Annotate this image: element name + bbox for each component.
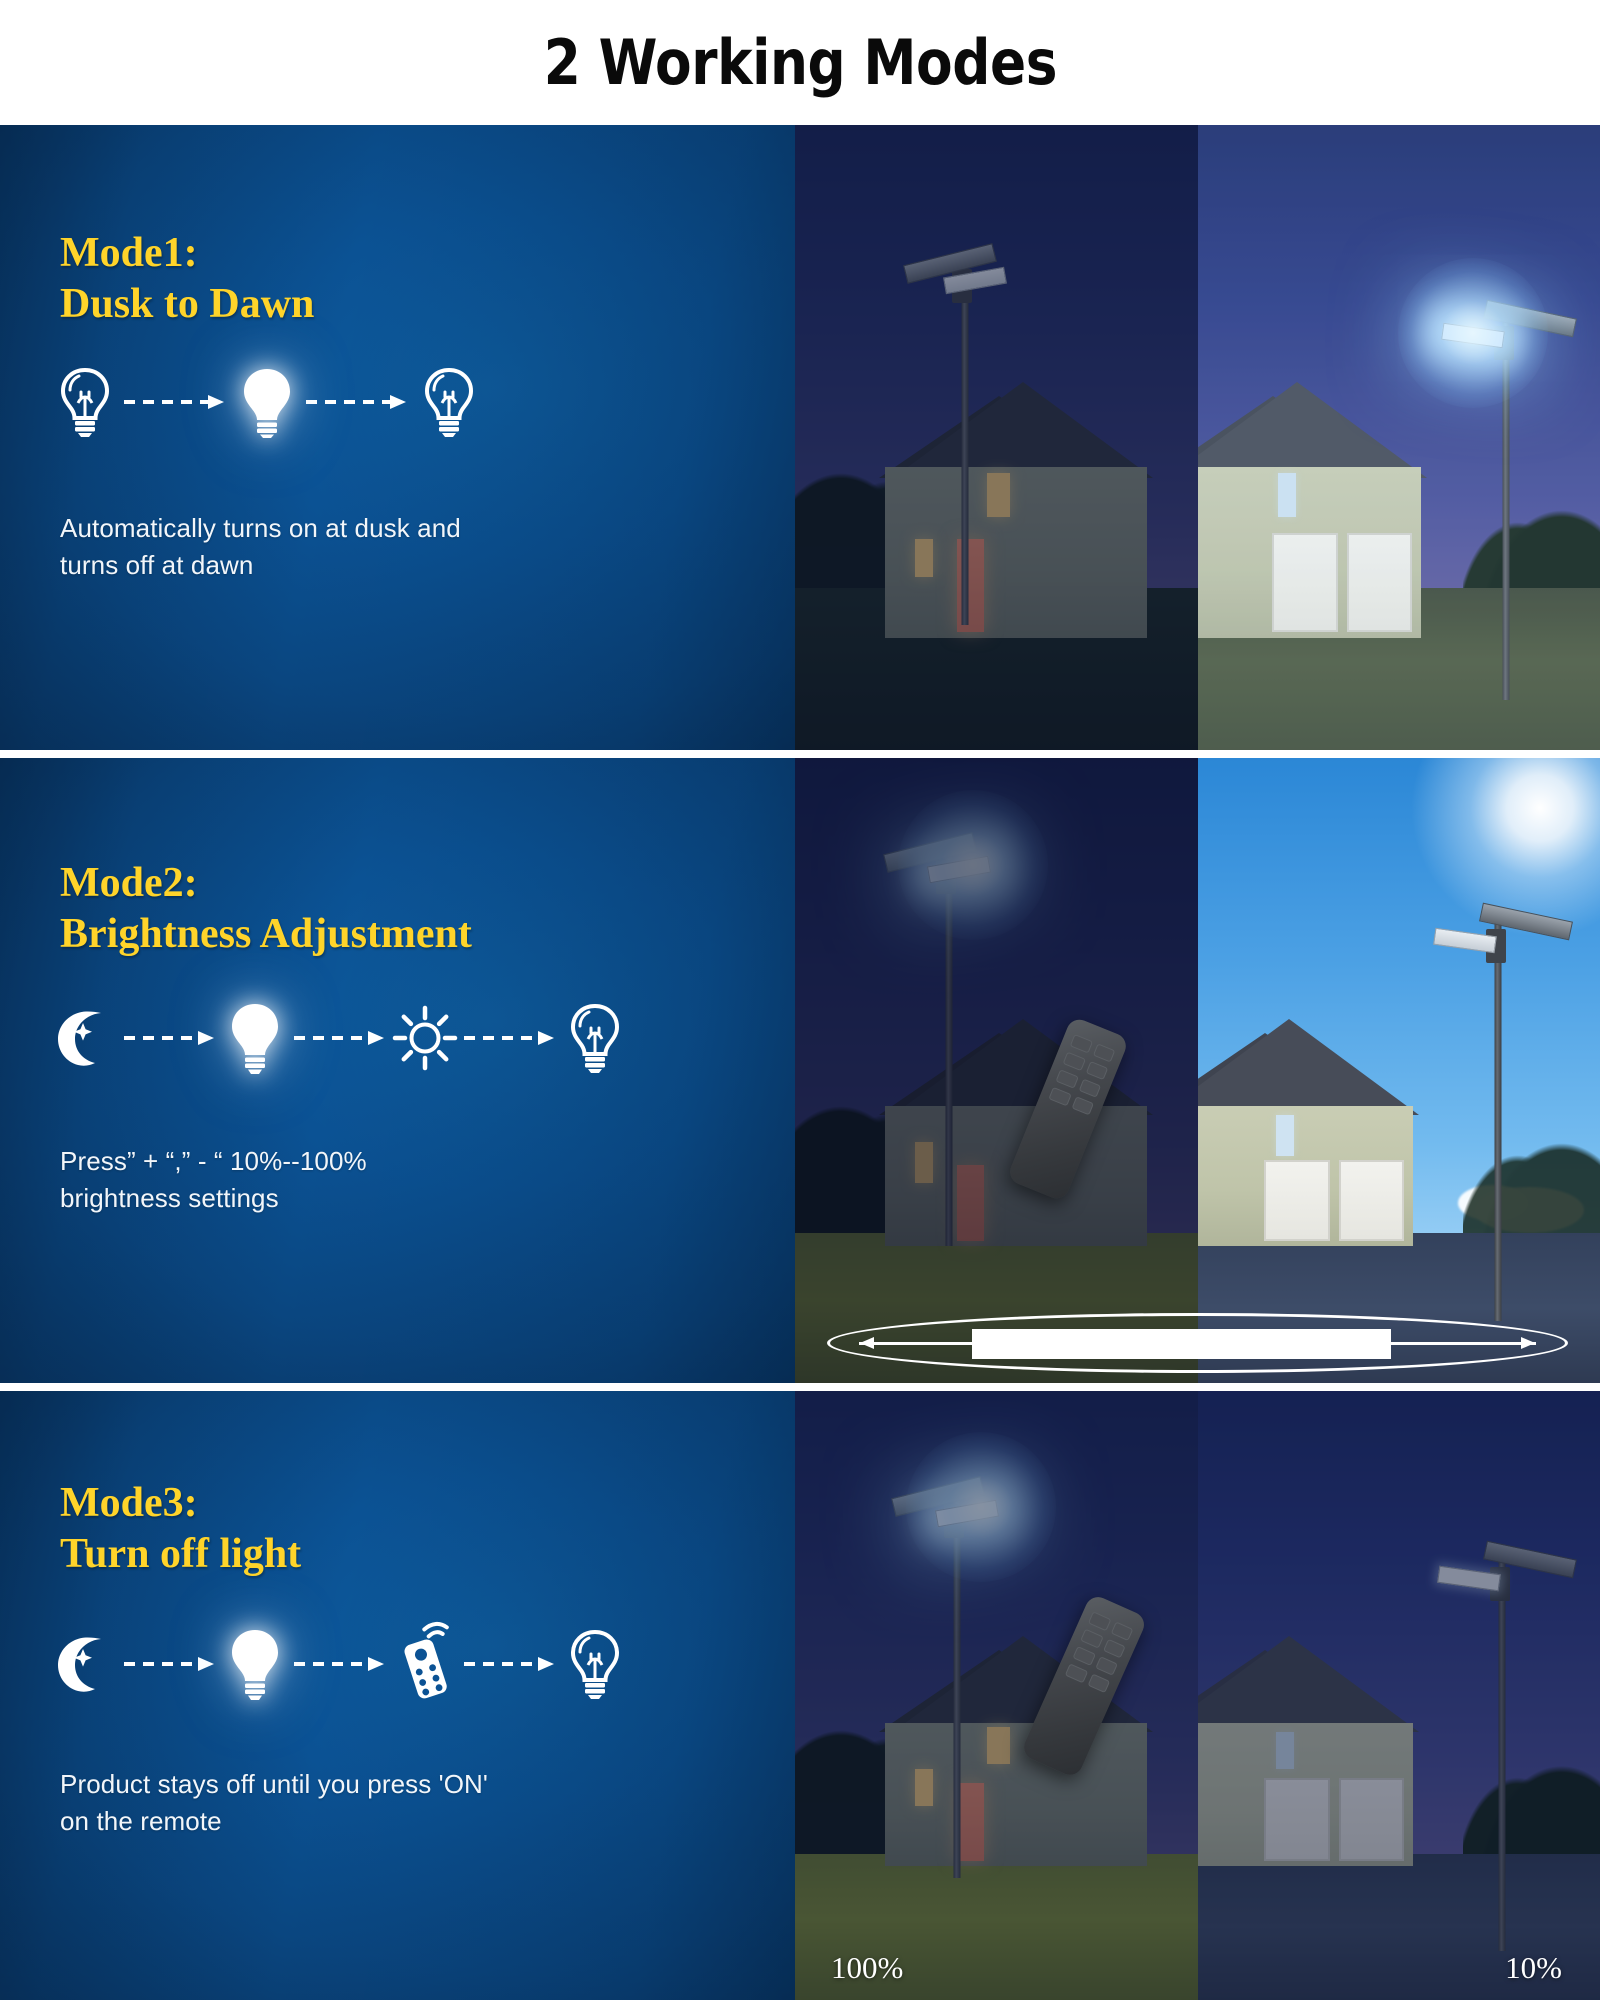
panel-divider <box>0 1383 1600 1391</box>
roof <box>1198 379 1428 478</box>
remote-button[interactable] <box>1102 1639 1125 1659</box>
bulb-glowing-icon <box>218 1001 292 1075</box>
garage-door <box>1339 1778 1405 1861</box>
remote-button[interactable] <box>1071 1096 1094 1115</box>
remote-button[interactable] <box>1085 1060 1108 1079</box>
roof <box>1198 1016 1420 1115</box>
mode3-info-pane: Mode3: Turn off light <box>0 1391 795 2000</box>
remote-button[interactable] <box>1055 1069 1078 1088</box>
mode3-photo: 100% <box>795 1391 1600 2000</box>
roof <box>1198 1633 1420 1732</box>
bulb-outline-icon <box>558 1627 632 1701</box>
remote-button[interactable] <box>1069 1034 1092 1053</box>
window <box>1278 473 1296 517</box>
brightness-label-100: 100% <box>831 1950 903 1986</box>
moon-star-icon <box>48 1627 122 1701</box>
mode1-photo-right-half <box>1198 125 1600 750</box>
mode1-description: Automatically turns on at dusk and turns… <box>60 510 461 584</box>
remote-control-icon <box>388 1627 462 1701</box>
mode-panel-1: Mode1: Dusk to Dawn <box>0 125 1600 750</box>
arrow-dashed-icon <box>292 1028 388 1048</box>
solar-street-lamp-on <box>1436 270 1576 700</box>
window <box>1276 1115 1294 1156</box>
remote-button[interactable] <box>1087 1611 1110 1631</box>
mode-panel-3: Mode3: Turn off light <box>0 1391 1600 2000</box>
remote-button[interactable] <box>1092 1043 1115 1062</box>
mode1-photo <box>795 125 1600 750</box>
remote-button[interactable] <box>1072 1646 1095 1666</box>
bulb-glowing-icon <box>218 1627 292 1701</box>
arrow-dashed-icon <box>462 1028 558 1048</box>
garage-door <box>1264 1778 1330 1861</box>
lamp-pole <box>953 1500 960 1878</box>
lamp-pole <box>1494 921 1501 1321</box>
bulb-glowing-icon <box>230 365 304 439</box>
arrow-dashed-icon <box>292 1654 388 1674</box>
remote-button[interactable] <box>1087 1673 1110 1693</box>
garage-door <box>1347 533 1413 632</box>
mode1-info-pane: Mode1: Dusk to Dawn <box>0 125 795 750</box>
brightness-label-10: 10% <box>1505 1950 1562 1986</box>
window <box>1276 1732 1294 1769</box>
mode2-icon-flow <box>48 1001 632 1075</box>
remote-button[interactable] <box>1080 1629 1103 1649</box>
mode2-photo-left-half <box>795 758 1198 1383</box>
garage-door <box>1264 1160 1330 1241</box>
solar-street-lamp-on <box>892 1468 1022 1878</box>
bulb-outline-icon <box>558 1001 632 1075</box>
mode2-description: Press” + “,” - “ 10%--100% brightness se… <box>60 1143 367 1217</box>
mode2-title: Mode2: Brightness Adjustment <box>60 858 472 960</box>
solar-street-lamp-off <box>900 225 1030 625</box>
page-title: 2 Working Modes <box>543 26 1056 99</box>
bulb-outline-icon <box>412 365 486 439</box>
lamp-pole <box>945 856 952 1246</box>
arrow-dashed-icon <box>122 392 230 412</box>
remote-button[interactable] <box>1048 1086 1071 1105</box>
brightness-label-blank <box>972 1329 1391 1359</box>
solar-street-lamp-off <box>1428 881 1568 1321</box>
mode2-photo-right-half <box>1198 758 1600 1383</box>
bulb-outline-icon <box>48 365 122 439</box>
house <box>1198 1635 1431 1866</box>
product-infographic: 2 Working Modes Mode1: Dusk to Dawn <box>0 0 1600 2000</box>
garage-door <box>1272 533 1338 632</box>
solar-street-lamp-dim <box>1432 1521 1572 1951</box>
arrow-dashed-icon <box>304 392 412 412</box>
lamp-pole <box>1498 1559 1505 1951</box>
mode1-photo-left-half <box>795 125 1198 750</box>
mode-panel-2: Mode2: Brightness Adjustment <box>0 758 1600 1383</box>
arrow-dashed-icon <box>122 1028 218 1048</box>
house <box>1198 1021 1431 1246</box>
arrow-dashed-icon <box>122 1654 218 1674</box>
remote-button[interactable] <box>1062 1051 1085 1070</box>
remote-button[interactable] <box>1064 1663 1087 1683</box>
sun-icon <box>388 1001 462 1075</box>
moon-star-icon <box>48 1001 122 1075</box>
mode1-icon-flow <box>48 365 486 439</box>
mode1-title: Mode1: Dusk to Dawn <box>60 228 314 330</box>
lamp-pole <box>961 265 968 625</box>
mode3-photo-left-half: 100% <box>795 1391 1198 2000</box>
remote-button[interactable] <box>1094 1656 1117 1676</box>
garage-door <box>1339 1160 1405 1241</box>
mode3-icon-flow <box>48 1627 632 1701</box>
remote-button[interactable] <box>1110 1621 1133 1641</box>
house <box>1198 363 1440 638</box>
lamp-pole <box>1502 320 1509 700</box>
arrow-dashed-icon <box>462 1654 558 1674</box>
mode2-info-pane: Mode2: Brightness Adjustment <box>0 758 795 1383</box>
ground <box>795 1233 1198 1383</box>
remote-button[interactable] <box>1078 1078 1101 1097</box>
mode3-title: Mode3: Turn off light <box>60 1478 301 1580</box>
header: 2 Working Modes <box>0 0 1600 125</box>
mode2-photo <box>795 758 1600 1383</box>
panel-divider <box>0 750 1600 758</box>
solar-street-lamp-on <box>884 826 1014 1246</box>
mode3-photo-right-half: 10% <box>1198 1391 1600 2000</box>
mode3-description: Product stays off until you press 'ON' o… <box>60 1766 488 1840</box>
